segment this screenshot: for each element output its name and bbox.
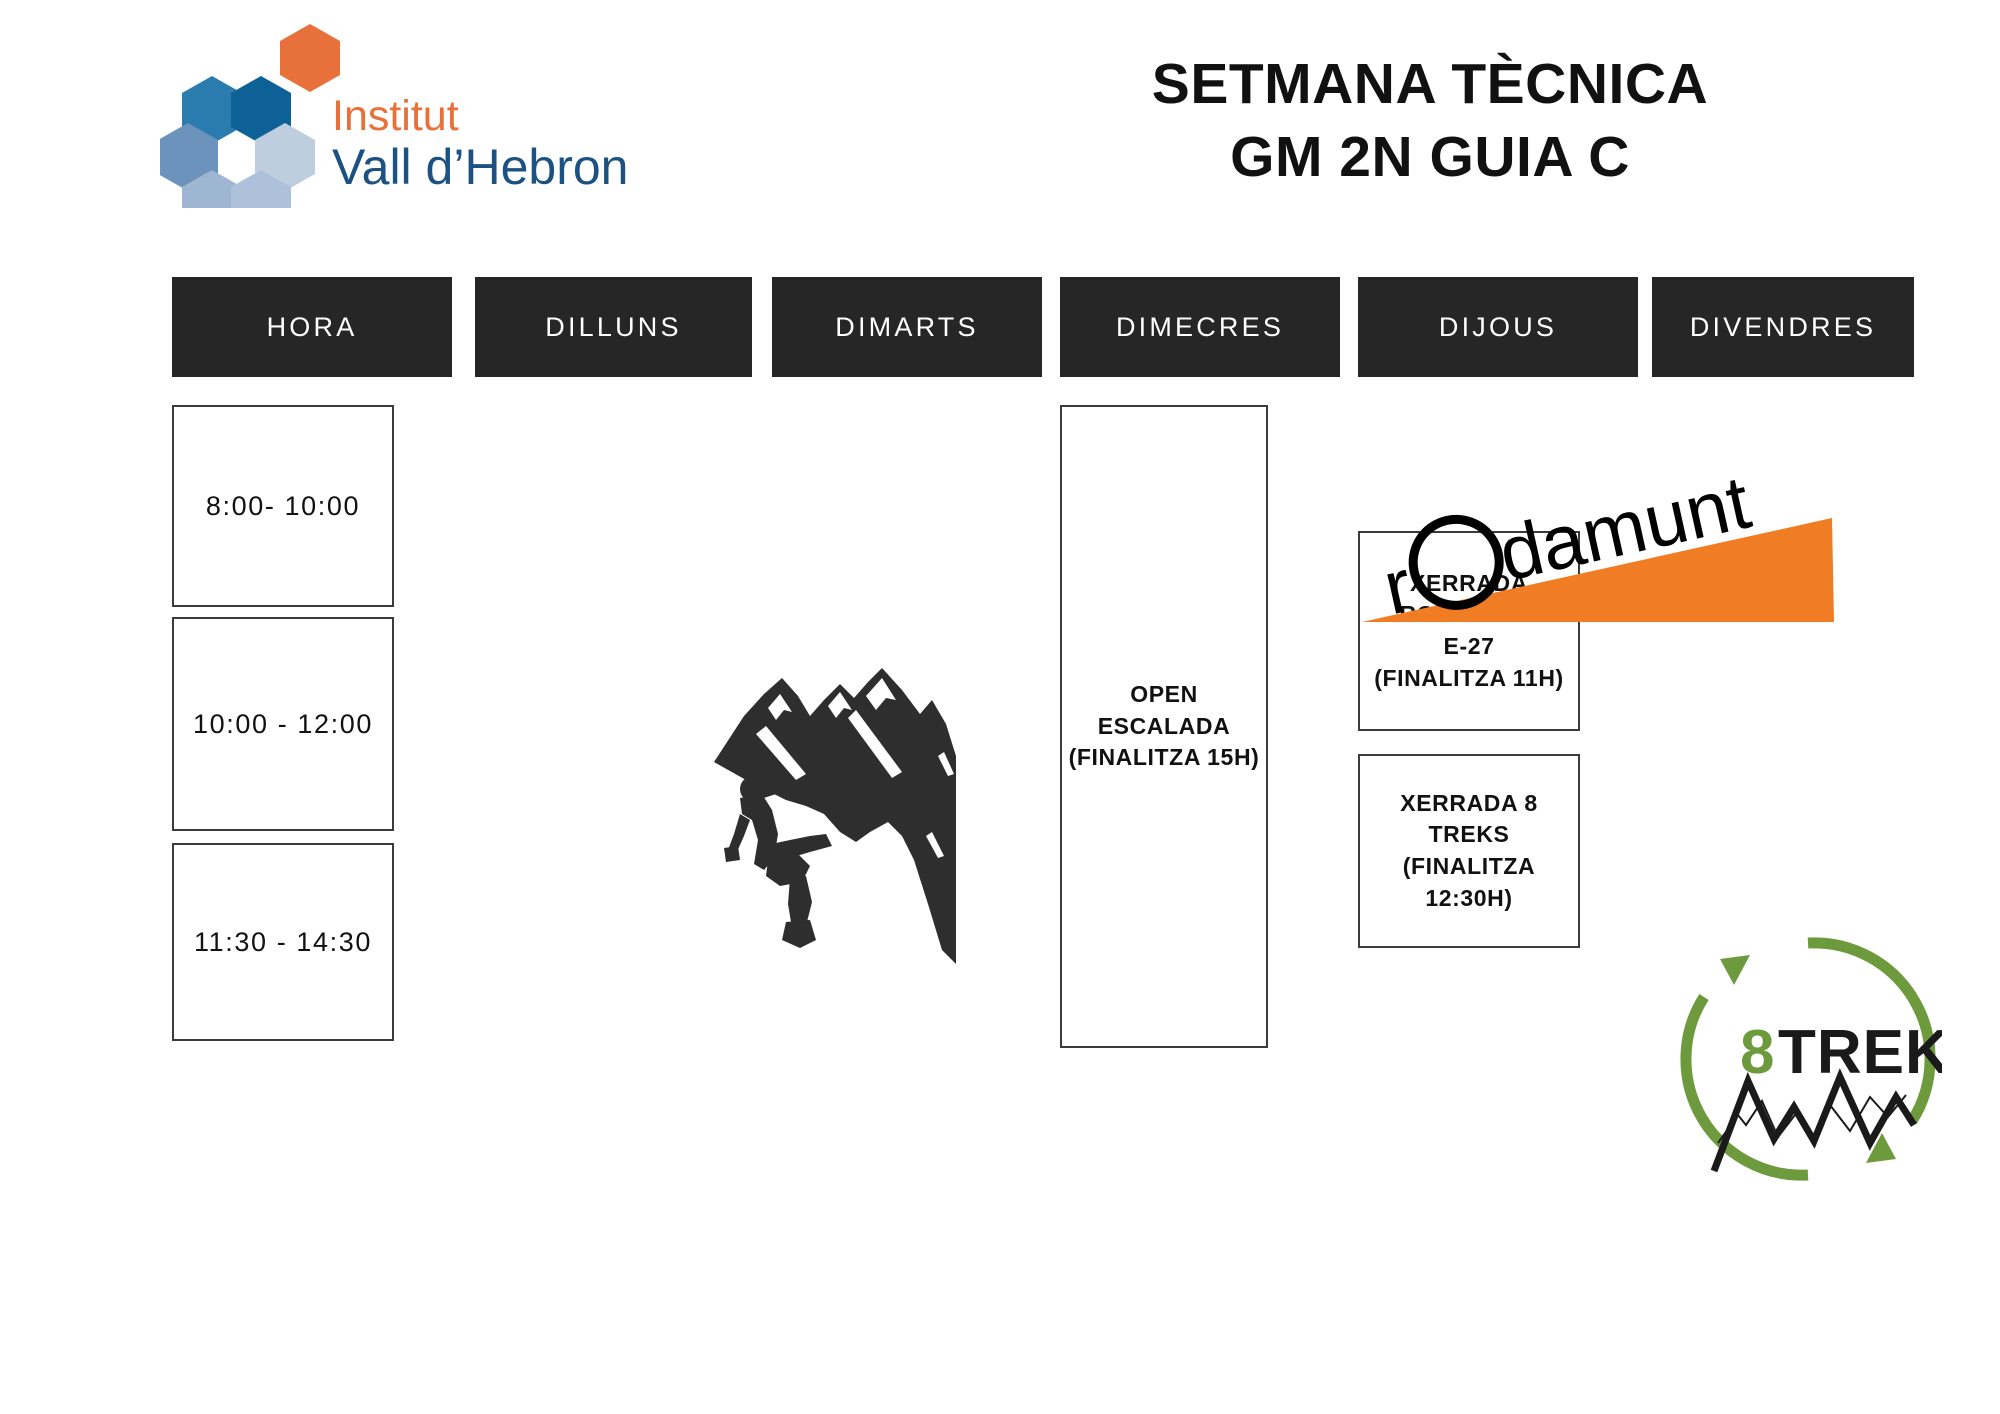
vall-dhebron-word: Vall d’Hebron	[332, 139, 628, 195]
time-cell-2: 10:00 - 12:00	[172, 617, 394, 831]
event-cell-dijous-xerrada-8treks: XERRADA 8 TREKS (FINALITZA 12:30H)	[1358, 754, 1580, 948]
column-header-dijous: DIJOUS	[1358, 277, 1638, 377]
hexagon-cluster-icon: Institut Vall d’Hebron	[160, 18, 780, 208]
title-line-2: GM 2N GUIA C	[1050, 121, 1810, 194]
8treks-number: 8	[1740, 1018, 1774, 1087]
page-title: SETMANA TÈCNICA GM 2N GUIA C	[1050, 48, 1810, 194]
time-cell-1: 8:00- 10:00	[172, 405, 394, 607]
institut-vall-dhebron-logo: Institut Vall d’Hebron	[160, 18, 780, 208]
climber-on-mountain-icon	[706, 664, 996, 984]
column-header-divendres: DIVENDRES	[1652, 277, 1914, 377]
schedule-table: HORA DILLUNS DIMARTS DIMECRES DIJOUS DIV…	[172, 277, 1914, 1187]
event-line-2: (FINALITZA 12:30H)	[1366, 851, 1572, 914]
8treks-logo-icon: 8 TREKS	[1674, 925, 1942, 1193]
time-cell-3: 11:30 - 14:30	[172, 843, 394, 1041]
8treks-word: TREKS	[1778, 1018, 1942, 1087]
title-line-1: SETMANA TÈCNICA	[1050, 48, 1810, 121]
column-header-dimecres: DIMECRES	[1060, 277, 1340, 377]
event-cell-dimecres-open-escalada: OPEN ESCALADA (FINALITZA 15H)	[1060, 405, 1268, 1048]
event-line-4: (FINALITZA 11H)	[1374, 663, 1564, 695]
institut-word: Institut	[332, 92, 459, 140]
column-header-dimarts: DIMARTS	[772, 277, 1042, 377]
event-line-1: XERRADA 8 TREKS	[1366, 788, 1572, 851]
arrow-head-top	[1720, 955, 1750, 985]
event-line-2: (FINALITZA 15H)	[1068, 742, 1260, 774]
rodamunt-logo-icon: r damunt	[1352, 440, 1852, 640]
event-line-1: OPEN ESCALADA	[1068, 679, 1260, 742]
column-header-dilluns: DILLUNS	[475, 277, 752, 377]
column-header-hora: HORA	[172, 277, 452, 377]
